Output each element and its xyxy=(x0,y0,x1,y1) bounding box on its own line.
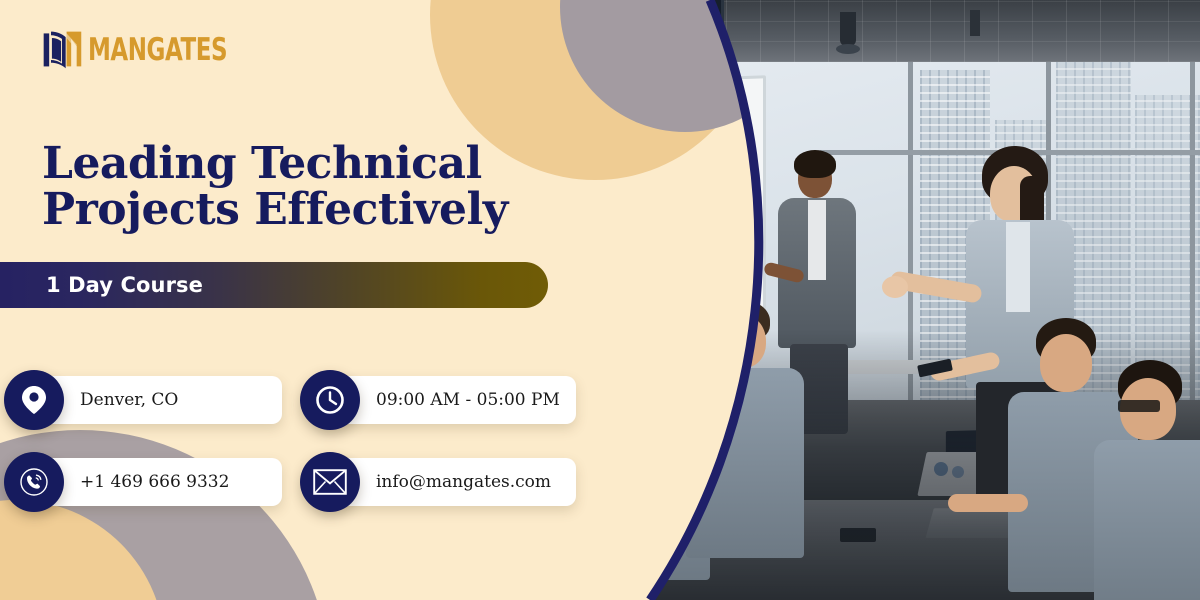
info-pill-email-text: info@mangates.com xyxy=(376,472,551,492)
info-pill-time-text: 09:00 AM - 05:00 PM xyxy=(376,390,560,410)
clock-icon xyxy=(300,370,360,430)
course-duration-banner: 1 Day Course xyxy=(0,262,548,308)
decorative-circle-tan-bottom xyxy=(0,500,165,600)
envelope-icon xyxy=(300,452,360,512)
phone-icon xyxy=(4,452,64,512)
info-pill-phone-text: +1 469 666 9332 xyxy=(80,472,229,492)
course-duration-label: 1 Day Course xyxy=(46,273,203,297)
page-title-line1: Leading Technical xyxy=(42,138,482,189)
info-pill-email[interactable]: info@mangates.com xyxy=(318,458,576,506)
brand-logo[interactable]: MANGATES xyxy=(40,26,239,72)
info-pill-time[interactable]: 09:00 AM - 05:00 PM xyxy=(318,376,576,424)
event-banner-poster: MANGATES Leading Technical Projects Effe… xyxy=(0,0,1200,600)
info-pill-location-text: Denver, CO xyxy=(80,390,178,410)
info-pill-phone[interactable]: +1 469 666 9332 xyxy=(22,458,282,506)
page-title-line2: Projects Effectively xyxy=(42,187,582,233)
office-photo xyxy=(590,0,1200,600)
brand-logo-text: MANGATES xyxy=(88,33,227,64)
book-m-logo-icon xyxy=(40,26,84,72)
photo-navy-curve-edge xyxy=(590,0,1200,600)
page-title: Leading Technical Projects Effectively xyxy=(42,141,582,233)
location-pin-icon xyxy=(4,370,64,430)
info-pill-location[interactable]: Denver, CO xyxy=(22,376,282,424)
